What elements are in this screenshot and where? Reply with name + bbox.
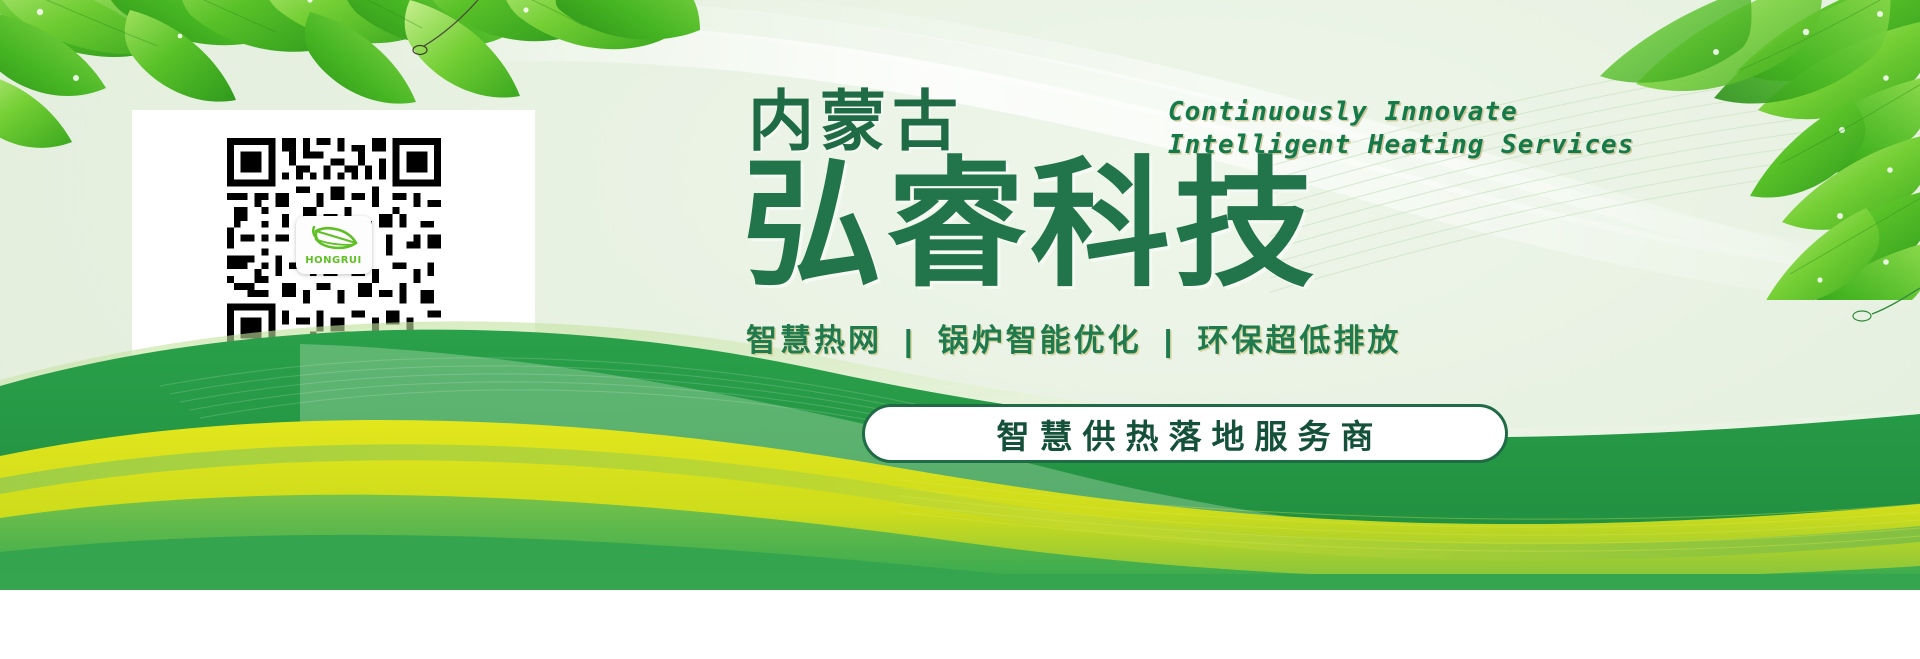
tagline-separator-2: | (1164, 325, 1176, 356)
tagline-row: 智慧热网 | 锅炉智能优化 | 环保超低排放 (746, 325, 1401, 356)
brand-title: 弘睿科技 (742, 155, 1318, 295)
service-badge-label: 智慧供热落地服务商 (987, 410, 1384, 458)
english-slogan-line1: Continuously Innovate (1168, 96, 1634, 129)
tagline-item-3: 环保超低排放 (1197, 325, 1401, 356)
tagline-separator-1: | (904, 325, 916, 356)
tagline-item-2: 锅炉智能优化 (938, 325, 1142, 356)
bottom-white-strip (0, 590, 1920, 659)
banner-text-block: 内蒙古 Continuously Innovate Intelligent He… (0, 0, 1920, 590)
service-badge: 智慧供热落地服务商 (862, 404, 1508, 463)
promo-banner: HONGRUI (0, 0, 1920, 590)
tagline-item-1: 智慧热网 (746, 325, 882, 356)
region-title: 内蒙古 (748, 88, 964, 154)
